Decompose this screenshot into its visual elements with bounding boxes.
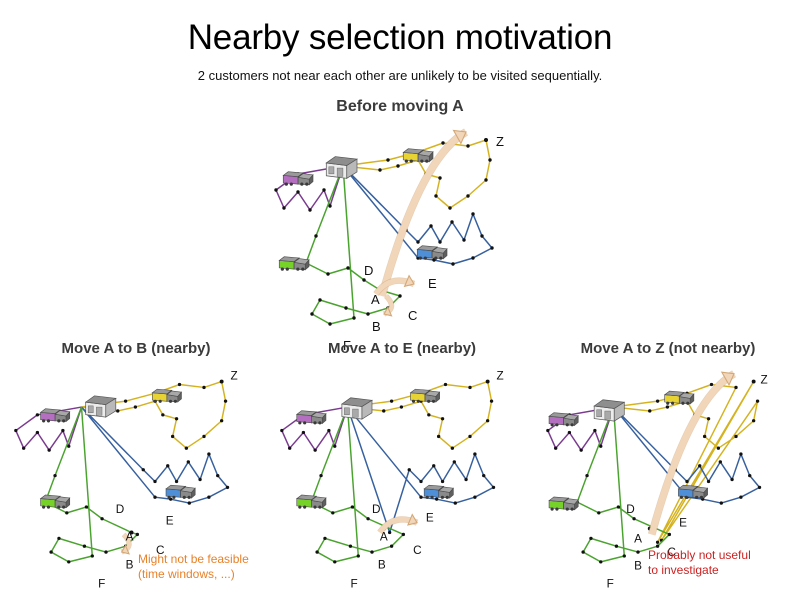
route-node <box>703 435 706 438</box>
route-node <box>104 550 107 553</box>
route-node <box>419 480 422 483</box>
node-label-b: B <box>634 560 642 573</box>
route-node <box>441 480 444 483</box>
route-node <box>482 474 485 477</box>
page-subtitle: 2 customers not near each other are unli… <box>0 68 800 83</box>
route-node <box>296 190 299 193</box>
route-node <box>554 447 557 450</box>
route-node <box>100 517 103 520</box>
truck-icon <box>417 246 447 260</box>
route-node <box>134 405 137 408</box>
node-label-a: A <box>126 530 134 543</box>
panel-move-a-to-e: Move A to E (nearby) ZDEACBF <box>274 340 530 592</box>
route-node <box>346 266 349 269</box>
route-node <box>216 474 219 477</box>
truck-icon <box>41 409 70 423</box>
route-node <box>53 474 56 477</box>
route-node <box>400 405 403 408</box>
route-node <box>434 194 437 197</box>
route-node <box>492 486 495 489</box>
route-node <box>441 141 444 144</box>
route-node <box>451 262 454 265</box>
route-path <box>348 407 494 532</box>
route-node <box>453 460 456 463</box>
node-z <box>752 380 756 384</box>
route-node <box>83 545 86 548</box>
node-label-b: B <box>378 559 386 572</box>
route-node <box>484 178 487 181</box>
route-node <box>632 517 635 520</box>
route-node <box>302 431 305 434</box>
truck-icon <box>403 149 433 163</box>
route-node <box>432 464 435 467</box>
node-label-d: D <box>626 503 635 516</box>
annotation-line: (time windows, ...) <box>138 567 249 582</box>
route-node <box>171 435 174 438</box>
route-node <box>175 417 178 420</box>
route-node <box>585 474 588 477</box>
route-node <box>366 517 369 520</box>
route-node <box>599 560 602 563</box>
route-node <box>274 188 277 191</box>
route-node <box>91 554 94 557</box>
node-label-e: E <box>428 276 437 291</box>
route-node <box>429 224 432 227</box>
route-node <box>153 496 156 499</box>
node-label-c: C <box>413 544 422 557</box>
truck-icon <box>678 485 707 499</box>
route-node <box>752 419 755 422</box>
node-label-f: F <box>350 577 357 590</box>
route-node <box>362 278 365 281</box>
route-node <box>396 164 399 167</box>
depot-icon <box>326 157 357 179</box>
route-node <box>488 158 491 161</box>
route-node <box>188 501 191 504</box>
route-node <box>450 220 453 223</box>
route-node <box>47 448 50 451</box>
route-node <box>331 511 334 514</box>
route-node <box>623 554 626 557</box>
route-node <box>390 399 393 402</box>
route-node <box>473 452 476 455</box>
route-node <box>748 474 751 477</box>
route-node <box>438 176 441 179</box>
route-node <box>175 480 178 483</box>
route-node <box>319 474 322 477</box>
depot-icon <box>594 400 624 421</box>
route-node <box>142 468 145 471</box>
route-node <box>739 496 742 499</box>
route-node <box>344 306 347 309</box>
route-node <box>593 429 596 432</box>
truck-icon <box>41 495 70 509</box>
route-node <box>490 246 493 249</box>
route-node <box>707 480 710 483</box>
node-label-z: Z <box>496 370 503 383</box>
panel-move-a-to-z: Move A to Z (not nearby) ZDEACBF Probabl… <box>540 340 796 592</box>
route-node <box>734 435 737 438</box>
route-node <box>648 409 651 412</box>
route-node <box>707 417 710 420</box>
node-label-e: E <box>166 515 174 528</box>
route-path <box>82 407 228 503</box>
route-node <box>323 537 326 540</box>
route-node <box>318 298 321 301</box>
route-node <box>468 435 471 438</box>
route-node <box>386 158 389 161</box>
truck-icon <box>297 495 326 509</box>
route-node <box>656 399 659 402</box>
node-z <box>484 138 488 142</box>
route-node <box>435 497 438 500</box>
panel-before-moving-a: Before moving A ZDEACBF <box>268 98 532 343</box>
route-node <box>198 478 201 481</box>
route-node <box>402 533 405 536</box>
route-node <box>226 486 229 489</box>
route-node <box>581 550 584 553</box>
route-node <box>454 501 457 504</box>
route-node <box>388 531 391 534</box>
route-node <box>444 383 447 386</box>
route-node <box>322 188 325 191</box>
route-node <box>166 464 169 467</box>
node-label-d: D <box>364 263 373 278</box>
route-node <box>202 386 205 389</box>
route-node <box>419 496 422 499</box>
node-label-z: Z <box>761 374 768 387</box>
route-node <box>398 294 401 297</box>
route-diagram-move-e: ZDEACBF <box>274 360 530 588</box>
route-node <box>579 448 582 451</box>
route-node <box>57 537 60 540</box>
annotation-line: Probably not useful <box>648 548 751 563</box>
route-node <box>685 480 688 483</box>
route-node <box>116 409 119 412</box>
node-label-e: E <box>426 512 434 525</box>
node-label-a: A <box>371 292 380 307</box>
route-node <box>161 413 164 416</box>
route-node <box>36 413 39 416</box>
route-node <box>758 486 761 489</box>
route-node <box>617 505 620 508</box>
route-node <box>408 468 411 471</box>
route-node <box>366 312 369 315</box>
route-node <box>717 447 720 450</box>
route-node <box>178 383 181 386</box>
route-node <box>308 208 311 211</box>
node-label-f: F <box>98 577 105 590</box>
panel-title-move-b: Move A to B (nearby) <box>8 340 264 357</box>
panel-title-before: Before moving A <box>268 98 532 116</box>
truck-icon <box>410 389 439 403</box>
route-node <box>589 537 592 540</box>
route-node <box>437 435 440 438</box>
route-node <box>220 419 223 422</box>
route-node <box>546 429 549 432</box>
route-node <box>471 212 474 215</box>
route-node <box>124 399 127 402</box>
depot-icon <box>342 398 372 419</box>
route-node <box>756 399 759 402</box>
annotation-line: Might not be feasible <box>138 552 249 567</box>
route-node <box>734 386 737 389</box>
route-node <box>310 312 313 315</box>
annotation-line: to investigate <box>648 563 751 578</box>
page-title: Nearby selection motivation <box>0 18 800 58</box>
route-node <box>153 480 156 483</box>
route-node <box>280 429 283 432</box>
route-node <box>333 560 336 563</box>
route-node <box>136 533 139 536</box>
route-node <box>471 256 474 259</box>
route-node <box>438 240 441 243</box>
slide-root: Nearby selection motivation 2 customers … <box>0 0 800 600</box>
route-node <box>349 545 352 548</box>
route-node <box>710 383 713 386</box>
node-z <box>220 380 224 384</box>
annotation-move-b: Might not be feasible(time windows, ...) <box>138 552 249 583</box>
route-node <box>328 322 331 325</box>
route-node <box>49 550 52 553</box>
route-node <box>224 399 227 402</box>
node-label-b: B <box>126 559 134 572</box>
route-node <box>666 405 669 408</box>
route-node <box>597 511 600 514</box>
truck-icon <box>283 172 313 186</box>
route-node <box>448 206 451 209</box>
route-node <box>370 550 373 553</box>
panel-title-move-e: Move A to E (nearby) <box>274 340 530 357</box>
route-node <box>451 447 454 450</box>
route-node <box>390 545 393 548</box>
route-node <box>36 431 39 434</box>
route-node <box>65 511 68 514</box>
route-node <box>315 550 318 553</box>
node-label-a: A <box>380 530 388 543</box>
truck-icon <box>297 411 326 425</box>
truck-icon <box>152 389 181 403</box>
node-label-d: D <box>116 503 125 516</box>
node-label-c: C <box>408 308 417 323</box>
route-node <box>416 240 419 243</box>
route-node <box>351 505 354 508</box>
route-node <box>486 419 489 422</box>
route-node <box>207 452 210 455</box>
move-arrow-a-to-e <box>376 276 414 294</box>
annotation-move-z: Probably not usefulto investigate <box>648 548 751 579</box>
route-node <box>656 541 659 544</box>
route-diagram-before: ZDEACBF <box>268 118 532 343</box>
route-node <box>85 505 88 508</box>
route-node <box>466 194 469 197</box>
route-node <box>462 238 465 241</box>
node-label-d: D <box>372 503 381 516</box>
route-node <box>22 447 25 450</box>
route-node <box>473 496 476 499</box>
route-node <box>202 435 205 438</box>
route-node <box>327 429 330 432</box>
route-node <box>185 447 188 450</box>
truck-icon <box>166 485 195 499</box>
route-node <box>282 206 285 209</box>
route-node <box>427 413 430 416</box>
route-node <box>468 386 471 389</box>
node-label-z: Z <box>496 134 504 149</box>
node-label-e: E <box>679 517 687 530</box>
route-node <box>314 234 317 237</box>
route-node <box>480 234 483 237</box>
route-node <box>720 501 723 504</box>
node-label-b: B <box>372 319 381 334</box>
route-node <box>313 448 316 451</box>
route-node <box>615 545 618 548</box>
route-node <box>441 417 444 420</box>
route-node <box>382 409 385 412</box>
truck-icon <box>549 497 578 511</box>
panel-move-a-to-b: Move A to B (nearby) ZDEACBF Might not b… <box>8 340 264 592</box>
route-node <box>288 447 291 450</box>
route-node <box>326 272 329 275</box>
route-node <box>568 431 571 434</box>
route-node <box>357 554 360 557</box>
route-node <box>187 460 190 463</box>
route-node <box>636 550 639 553</box>
truck-icon <box>424 485 453 499</box>
move-arrow-a-to-b <box>384 296 392 316</box>
truck-icon <box>279 257 309 271</box>
node-label-f: F <box>607 577 614 590</box>
node-label-z: Z <box>230 370 237 383</box>
route-node <box>207 496 210 499</box>
route-node <box>352 316 355 319</box>
depot-icon <box>86 396 116 417</box>
node-z <box>486 380 490 384</box>
route-node <box>464 478 467 481</box>
route-node <box>14 429 17 432</box>
route-node <box>378 168 381 171</box>
route-node <box>698 464 701 467</box>
panel-title-move-z: Move A to Z (not nearby) <box>540 340 796 357</box>
route-node <box>739 452 742 455</box>
route-node <box>466 144 469 147</box>
route-node <box>490 399 493 402</box>
node-label-a: A <box>634 532 642 545</box>
route-node <box>61 429 64 432</box>
route-node <box>719 460 722 463</box>
route-node <box>668 533 671 536</box>
route-node <box>67 560 70 563</box>
route-node <box>730 478 733 481</box>
